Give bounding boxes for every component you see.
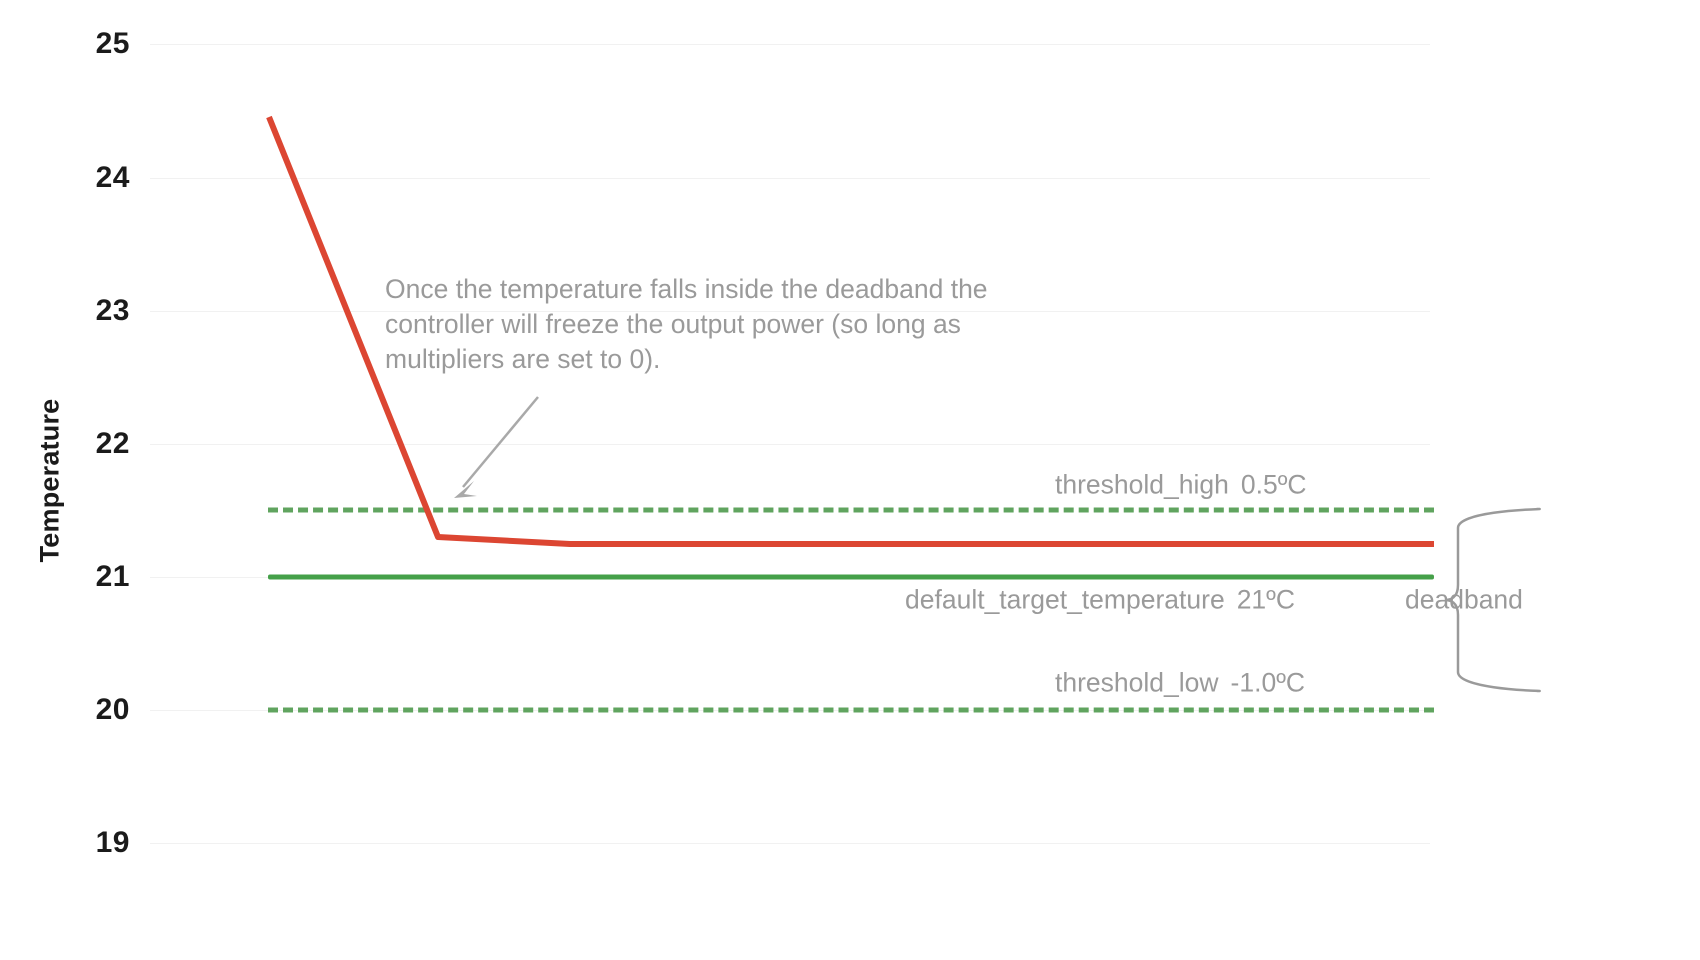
deadband-label: deadband <box>1405 585 1523 616</box>
default-target-temperature-label-name: default_target_temperature <box>905 585 1225 615</box>
y-tick-19: 19 <box>30 826 130 860</box>
chart-canvas: Temperature 25 24 23 22 21 20 19 <box>0 0 1700 960</box>
deadband-annotation-text: Once the temperature falls inside the de… <box>385 272 1065 377</box>
y-tick-21: 21 <box>30 560 130 594</box>
y-tick-23: 23 <box>30 294 130 328</box>
y-tick-20: 20 <box>30 693 130 727</box>
default-target-temperature-label: default_target_temperature21ºC <box>905 585 1295 616</box>
series-svg-layer <box>150 0 1700 960</box>
threshold-high-label-name: threshold_high <box>1055 470 1229 500</box>
threshold-high-label-value: 0.5ºC <box>1241 470 1307 500</box>
y-tick-24: 24 <box>30 161 130 195</box>
y-tick-22: 22 <box>30 427 130 461</box>
threshold-low-label: threshold_low-1.0ºC <box>1055 668 1305 699</box>
threshold-high-label: threshold_high0.5ºC <box>1055 470 1307 501</box>
threshold-low-label-name: threshold_low <box>1055 668 1219 698</box>
y-tick-25: 25 <box>30 27 130 61</box>
threshold-low-label-value: -1.0ºC <box>1231 668 1305 698</box>
annotation-arrow-icon <box>454 397 538 498</box>
default-target-temperature-label-value: 21ºC <box>1237 585 1295 615</box>
plot-area: threshold_high0.5ºC default_target_tempe… <box>150 0 1700 960</box>
y-axis-tick-labels: 25 24 23 22 21 20 19 <box>20 0 130 960</box>
